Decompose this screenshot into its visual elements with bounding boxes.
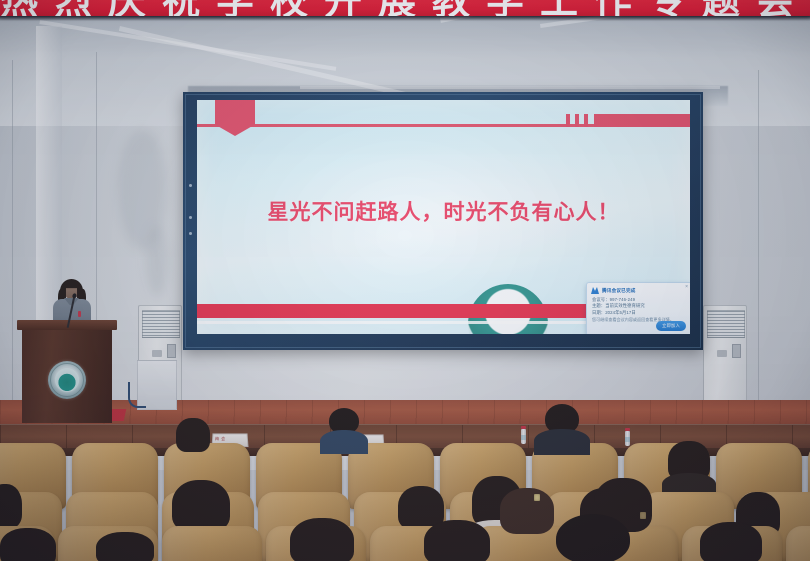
meeting-app-logo-icon xyxy=(591,287,599,294)
wall-smudge xyxy=(146,226,168,296)
attendee-hair xyxy=(96,532,154,561)
seat[interactable] xyxy=(162,526,262,561)
lectern xyxy=(22,327,112,423)
ac-grille-icon xyxy=(142,310,179,338)
popup-title: 腾讯会议已完成 xyxy=(602,288,636,294)
banner-text: 热烈庆祝学校开展教学工作专题会议 xyxy=(0,0,810,16)
ac-grille-icon xyxy=(707,310,744,338)
slide-accent-tab xyxy=(215,100,255,136)
meeting-notification-popup[interactable]: 腾讯会议已完成 × 会议号：997-746-249 主题：当前实效性德育研究 日… xyxy=(586,282,690,334)
hair-clip xyxy=(534,494,540,501)
seat[interactable] xyxy=(786,526,810,561)
hair-tie xyxy=(640,512,646,519)
attendee-hair xyxy=(172,480,230,532)
wall-seam xyxy=(12,60,13,420)
screen-frame-dot xyxy=(189,232,192,235)
auditorium-scene: 星光不问赶路人，时光不负有心人！ 腾讯会议已完成 × 会议号：997-746-2… xyxy=(0,0,810,561)
attendee-hair xyxy=(424,520,490,561)
close-icon[interactable]: × xyxy=(685,285,688,290)
banner-shadow xyxy=(0,16,810,21)
ceiling-beam xyxy=(300,86,720,89)
attendee-hair xyxy=(0,528,56,561)
ac-logo xyxy=(717,350,727,357)
screen-frame-dot xyxy=(189,216,192,219)
attendee-shoulders xyxy=(534,429,590,455)
attendee-hair xyxy=(290,518,354,561)
presenter-badge xyxy=(78,311,81,317)
join-meeting-button[interactable]: 立即加入 xyxy=(656,321,686,331)
ac-control-panel[interactable] xyxy=(732,344,741,358)
attendee-shoulders xyxy=(320,430,368,454)
ac-logo xyxy=(152,350,162,357)
attendee-hair xyxy=(176,418,210,452)
wall-seam xyxy=(758,70,759,410)
popup-header: 腾讯会议已完成 × xyxy=(587,283,690,296)
screen-frame-dot xyxy=(189,184,192,187)
attendee-hair xyxy=(500,488,554,534)
attendee-hair xyxy=(0,484,22,528)
popup-meeting-date: 日期：2024年5月17日 xyxy=(592,310,686,316)
attendee-hair xyxy=(700,522,762,561)
attendee-head xyxy=(556,514,630,561)
stage-cable xyxy=(128,382,146,408)
slide-headline: 星光不问赶路人，时光不负有心人！ xyxy=(197,196,690,226)
ac-control-panel[interactable] xyxy=(167,344,176,358)
water-bottle xyxy=(521,429,526,444)
slide-tick-marks-icon xyxy=(566,114,592,127)
nameplate-text: 梅 会 xyxy=(215,436,226,442)
school-emblem xyxy=(48,361,86,399)
overhead-red-banner: 热烈庆祝学校开展教学工作专题会议 xyxy=(0,0,810,16)
slide-accent-bar xyxy=(594,114,690,127)
projection-screen: 星光不问赶路人，时光不负有心人！ 腾讯会议已完成 × 会议号：997-746-2… xyxy=(183,92,703,350)
slide-canvas: 星光不问赶路人，时光不负有心人！ 腾讯会议已完成 × 会议号：997-746-2… xyxy=(197,100,690,334)
popup-body: 会议号：997-746-249 主题：当前实效性德育研究 日期：2024年5月1… xyxy=(587,296,690,323)
